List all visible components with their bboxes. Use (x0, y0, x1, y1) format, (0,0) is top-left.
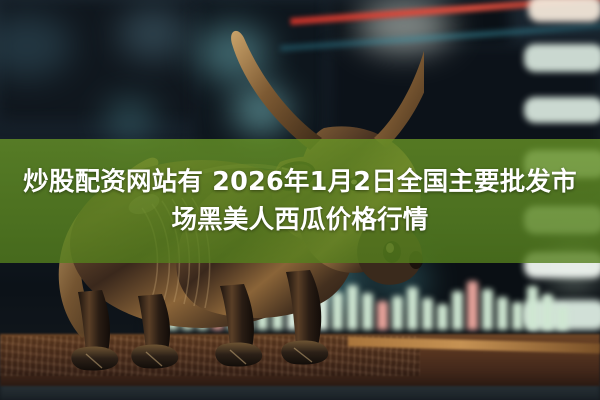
ticker-pill (528, 0, 600, 22)
headline-line-1: 炒股配资网站有 2026年1月2日全国主要批发市 (23, 164, 577, 200)
ticker-pill (524, 97, 600, 123)
ticker-pill (524, 44, 600, 72)
article-banner-image: 炒股配资网站有 2026年1月2日全国主要批发市 场黑美人西瓜价格行情 (0, 0, 600, 400)
headline-line-2: 场黑美人西瓜价格行情 (171, 202, 428, 238)
headline: 炒股配资网站有 2026年1月2日全国主要批发市 场黑美人西瓜价格行情 (0, 139, 600, 263)
